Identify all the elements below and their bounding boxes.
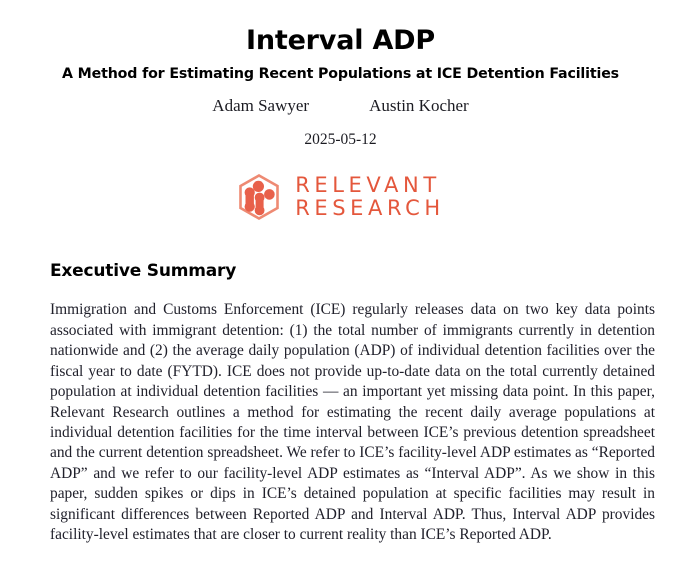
upper-right-dot-icon [264,190,275,201]
document-date: 2025-05-12 [0,131,681,149]
section-paragraph: Immigration and Customs Enforcement (ICE… [50,300,655,545]
publisher-logo: RELEVANT RESEARCH [0,173,681,221]
page-title: Interval ADP [0,26,681,55]
author-list: Adam Sawyer Austin Kocher [0,96,681,116]
document-page: Interval ADP A Method for Estimating Rec… [0,0,681,584]
logo-lockup: RELEVANT RESEARCH [236,173,445,221]
left-capsule-top-dot-icon [245,188,255,198]
center-capsule-bottom-dot-icon [255,206,265,216]
hexagon-molecule-icon [236,173,282,221]
logo-line-research: RESEARCH [295,197,445,221]
upper-center-dot-icon [253,181,264,192]
title-block: Interval ADP A Method for Estimating Rec… [0,0,681,149]
author-name: Adam Sawyer [212,96,309,116]
logo-wordmark: RELEVANT RESEARCH [295,174,445,221]
author-name: Austin Kocher [369,96,469,116]
section-heading: Executive Summary [50,261,655,281]
section-executive-summary: Executive Summary Immigration and Custom… [0,261,681,545]
left-capsule-bottom-dot-icon [245,202,255,212]
center-capsule-top-dot-icon [255,193,265,203]
logo-line-relevant: RELEVANT [295,174,445,198]
document-subtitle: A Method for Estimating Recent Populatio… [0,66,681,82]
